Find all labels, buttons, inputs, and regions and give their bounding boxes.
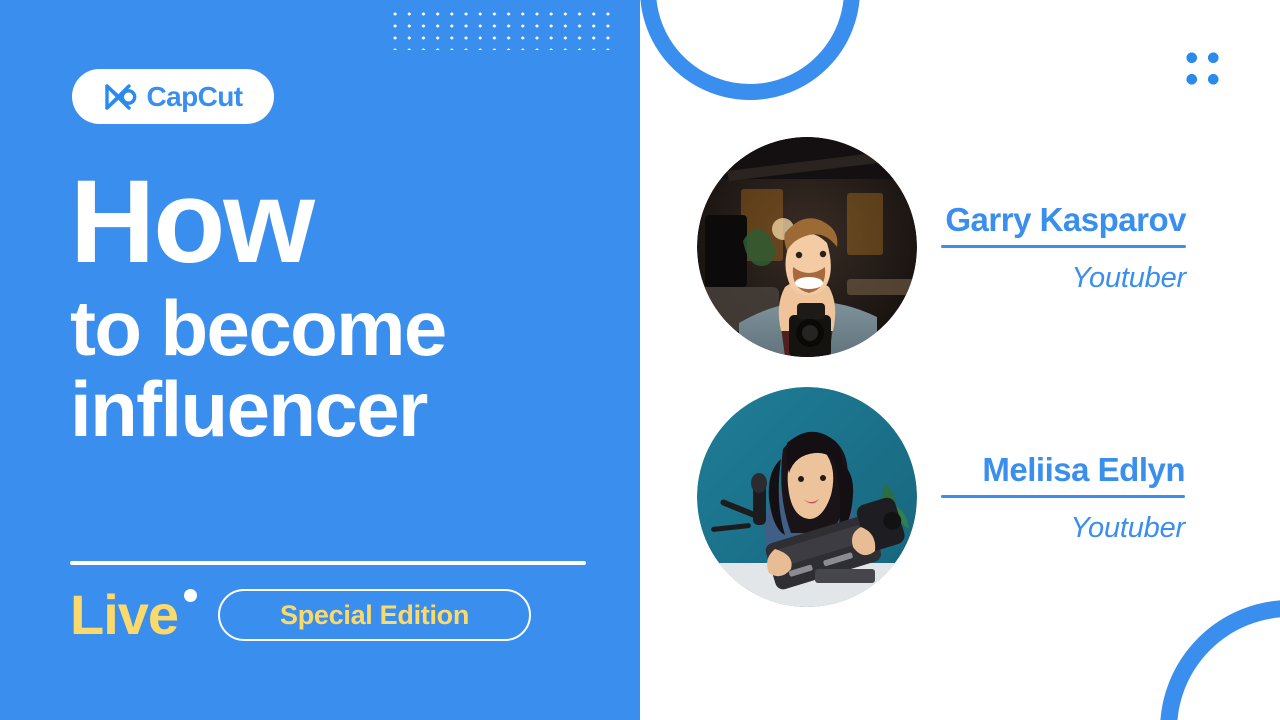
speaker-role: Youtuber bbox=[1071, 514, 1186, 543]
arc-decoration-icon bbox=[1160, 600, 1280, 720]
headline-line-2: to become bbox=[70, 289, 630, 369]
poster-canvas: CapCut How to become influencer Live Spe… bbox=[0, 0, 1280, 720]
avatar bbox=[697, 387, 917, 607]
avatar bbox=[697, 137, 917, 357]
speaker-card: Garry Kasparov Youtuber bbox=[697, 137, 1186, 357]
page-title: How to become influencer bbox=[70, 168, 630, 450]
speaker-card: Meliisa Edlyn Youtuber bbox=[697, 387, 1185, 607]
arc-decoration-icon bbox=[640, 0, 860, 100]
speaker-name: Garry Kasparov bbox=[945, 201, 1186, 239]
headline-line-3: influencer bbox=[70, 370, 630, 450]
speaker-role: Youtuber bbox=[1072, 264, 1187, 293]
speaker-name-underline bbox=[941, 245, 1186, 248]
speaker-name-underline bbox=[941, 495, 1185, 498]
headline-line-1: How bbox=[70, 168, 630, 277]
dot-grid-icon bbox=[388, 8, 614, 50]
speaker-photo-icon bbox=[697, 387, 917, 607]
left-blue-panel: CapCut How to become influencer Live Spe… bbox=[0, 0, 640, 720]
dot-grid-icon bbox=[1186, 52, 1229, 95]
capcut-logo-icon bbox=[104, 82, 138, 112]
speaker-info: Meliisa Edlyn Youtuber bbox=[941, 451, 1185, 544]
live-status-dot-icon bbox=[184, 589, 197, 602]
capcut-logo[interactable]: CapCut bbox=[72, 69, 274, 124]
capcut-wordmark: CapCut bbox=[147, 83, 243, 111]
speaker-info: Garry Kasparov Youtuber bbox=[941, 201, 1186, 294]
special-edition-badge[interactable]: Special Edition bbox=[218, 589, 531, 641]
live-label-text: Live bbox=[70, 583, 178, 646]
speaker-name: Meliisa Edlyn bbox=[982, 451, 1185, 489]
headline-divider bbox=[70, 561, 586, 565]
special-edition-label: Special Edition bbox=[280, 602, 469, 629]
live-label: Live bbox=[70, 587, 178, 643]
speaker-photo-icon bbox=[697, 137, 917, 357]
live-badge-row: Live Special Edition bbox=[70, 580, 590, 650]
